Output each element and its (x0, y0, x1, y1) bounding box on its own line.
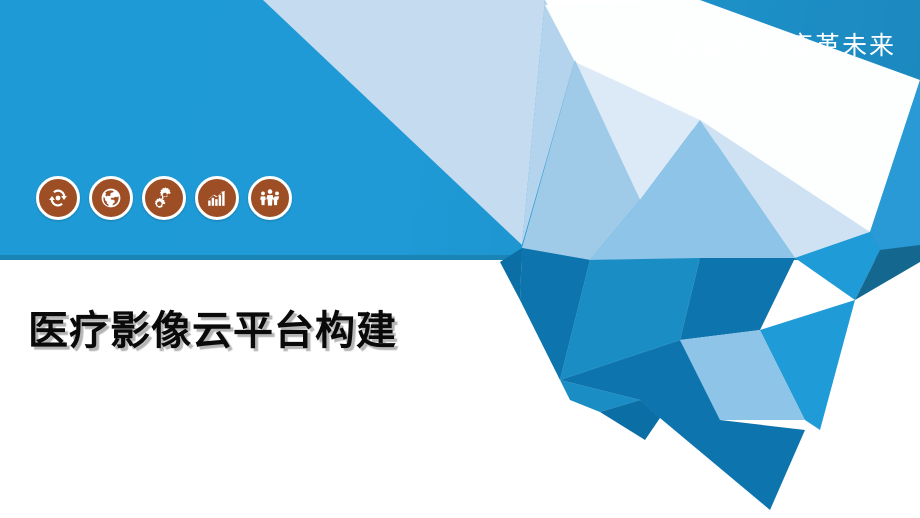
page-title: 医疗影像云平台构建 (28, 298, 397, 356)
icon-row (36, 176, 292, 220)
low-poly-decoration (0, 0, 920, 518)
tagline: 数智创新 变革未来 (672, 26, 896, 62)
gears-icon[interactable] (142, 176, 186, 220)
people-group-icon[interactable] (248, 176, 292, 220)
presentation-slide: 数智创新 变革未来 (0, 0, 920, 518)
globe-icon[interactable] (89, 176, 133, 220)
refresh-cycle-icon[interactable] (36, 176, 80, 220)
poly-p14 (500, 248, 522, 300)
poly-p1 (263, 0, 545, 245)
bar-chart-growth-icon[interactable] (195, 176, 239, 220)
